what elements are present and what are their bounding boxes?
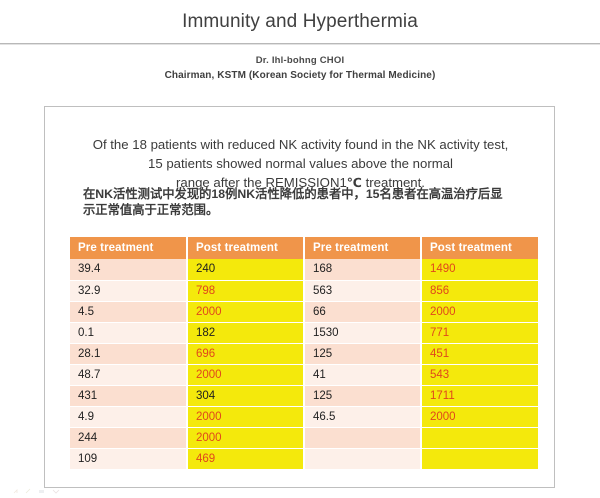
table-cell: 39.4 — [70, 259, 187, 280]
table-header: Pre treatment Post treatment Pre treatme… — [70, 237, 538, 259]
table-row: 32.9798563856 — [70, 280, 538, 301]
table-cell: 66 — [304, 301, 421, 322]
page-title: Immunity and Hyperthermia — [182, 11, 418, 33]
table-cell: 1711 — [421, 385, 538, 406]
table-row: 0.11821530771 — [70, 322, 538, 343]
table-cell: 41 — [304, 364, 421, 385]
table-body: 39.4240168149032.97985638564.52000662000… — [70, 259, 538, 469]
column-header-post-treatment-2: Post treatment — [421, 237, 538, 259]
table-cell: 1490 — [421, 259, 538, 280]
column-header-pre-treatment-2: Pre treatment — [304, 237, 421, 259]
author-name: Dr. Ihl-bohng CHOI — [0, 54, 600, 68]
table-row: 28.1696125451 — [70, 343, 538, 364]
content-panel: Of the 18 patients with reduced NK activ… — [44, 106, 555, 488]
table-cell: 2000 — [421, 406, 538, 427]
summary-cn-line-1: 在NK活性测试中发现的18例NK活性降低的患者中，15名患者在高温治疗后显 — [83, 187, 503, 201]
table-cell: 304 — [187, 385, 304, 406]
table-row: 4313041251711 — [70, 385, 538, 406]
table-cell: 543 — [421, 364, 538, 385]
nk-activity-table: Pre treatment Post treatment Pre treatme… — [70, 237, 538, 470]
slide-canvas: Immunity and Hyperthermia Dr. Ihl-bohng … — [0, 0, 600, 498]
summary-paragraph-english: Of the 18 patients with reduced NK activ… — [57, 135, 544, 193]
table-cell: 798 — [187, 280, 304, 301]
table-row: 4.9200046.52000 — [70, 406, 538, 427]
summary-paragraph-chinese: 在NK活性测试中发现的18例NK活性降低的患者中，15名患者在高温治疗后显 示正… — [83, 187, 538, 218]
summary-cn-line-2: 示正常值高于正常范围。 — [83, 203, 218, 217]
table-cell: 451 — [421, 343, 538, 364]
table-cell: 240 — [187, 259, 304, 280]
decorative-footer-marks — [12, 487, 72, 495]
table-cell: 563 — [304, 280, 421, 301]
table-cell: 469 — [187, 448, 304, 469]
table-cell: 168 — [304, 259, 421, 280]
table-row: 39.42401681490 — [70, 259, 538, 280]
table-cell: 2000 — [187, 427, 304, 448]
table-cell: 182 — [187, 322, 304, 343]
table-cell: 46.5 — [304, 406, 421, 427]
table-cell: 125 — [304, 343, 421, 364]
table-cell: 771 — [421, 322, 538, 343]
table-row: 4.52000662000 — [70, 301, 538, 322]
slide-title-band: Immunity and Hyperthermia — [0, 0, 600, 43]
table-cell: 48.7 — [70, 364, 187, 385]
table-row: 109469 — [70, 448, 538, 469]
table-cell: 2000 — [187, 406, 304, 427]
table-cell: 109 — [70, 448, 187, 469]
table-cell: 696 — [187, 343, 304, 364]
table-cell: 856 — [421, 280, 538, 301]
table-cell: 0.1 — [70, 322, 187, 343]
table-cell: 32.9 — [70, 280, 187, 301]
title-divider — [0, 43, 600, 45]
column-header-post-treatment-1: Post treatment — [187, 237, 304, 259]
table-cell: 431 — [70, 385, 187, 406]
table-cell — [421, 448, 538, 469]
author-affiliation: Chairman, KSTM (Korean Society for Therm… — [0, 68, 600, 83]
table-cell: 2000 — [421, 301, 538, 322]
summary-line-1: Of the 18 patients with reduced NK activ… — [93, 137, 509, 152]
table-cell: 2000 — [187, 301, 304, 322]
table-cell: 4.5 — [70, 301, 187, 322]
table-header-row: Pre treatment Post treatment Pre treatme… — [70, 237, 538, 259]
table-cell — [304, 427, 421, 448]
column-header-pre-treatment-1: Pre treatment — [70, 237, 187, 259]
table-cell — [421, 427, 538, 448]
table-cell: 4.9 — [70, 406, 187, 427]
table-cell: 125 — [304, 385, 421, 406]
table-cell — [304, 448, 421, 469]
table-cell: 1530 — [304, 322, 421, 343]
table-cell: 244 — [70, 427, 187, 448]
summary-line-2: 15 patients showed normal values above t… — [148, 156, 453, 171]
table-cell: 2000 — [187, 364, 304, 385]
table-row: 48.7200041543 — [70, 364, 538, 385]
table-row: 2442000 — [70, 427, 538, 448]
author-block: Dr. Ihl-bohng CHOI Chairman, KSTM (Korea… — [0, 54, 600, 83]
table-cell: 28.1 — [70, 343, 187, 364]
